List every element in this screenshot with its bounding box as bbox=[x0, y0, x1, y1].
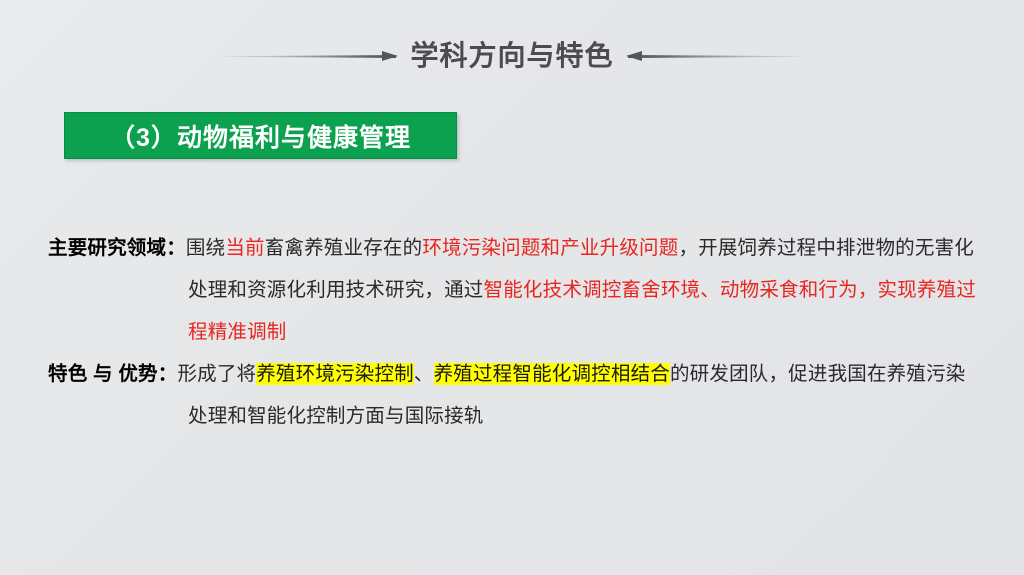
section-badge-label: （3）动物福利与健康管理 bbox=[110, 118, 411, 154]
text-run-plain: 、 bbox=[414, 363, 434, 385]
paragraph-runs: 围绕当前畜禽养殖业存在的环境污染问题和产业升级问题，开展饲养过程中排泄物的无害化… bbox=[186, 237, 976, 343]
text-run-highlight: 养殖环境污染控制 bbox=[256, 363, 414, 385]
slide-title-row: 学科方向与特色 bbox=[0, 34, 1024, 78]
paragraph-features-advantages: 特色 与 优势：形成了将养殖环境污染控制、养殖过程智能化调控相结合的研发团队，促… bbox=[48, 353, 978, 437]
right-arrow-icon bbox=[628, 50, 803, 62]
text-run-red: 环境污染问题和产业升级问题 bbox=[422, 237, 678, 259]
text-run-red: 当前 bbox=[225, 237, 264, 259]
text-run-plain: 形成了将 bbox=[177, 363, 256, 385]
body-content: 主要研究领域：围绕当前畜禽养殖业存在的环境污染问题和产业升级问题，开展饲养过程中… bbox=[48, 227, 978, 437]
left-arrow-icon bbox=[221, 50, 396, 62]
paragraph-label: 特色 与 优势： bbox=[48, 363, 177, 385]
page-title: 学科方向与特色 bbox=[396, 34, 627, 78]
paragraph-label: 主要研究领域： bbox=[48, 237, 186, 259]
paragraph-research-areas: 主要研究领域：围绕当前畜禽养殖业存在的环境污染问题和产业升级问题，开展饲养过程中… bbox=[48, 227, 978, 353]
paragraph-runs: 形成了将养殖环境污染控制、养殖过程智能化调控相结合的研发团队，促进我国在养殖污染… bbox=[177, 363, 965, 427]
text-run-highlight: 养殖过程智能化调控相结合 bbox=[434, 363, 670, 385]
slide-root: 学科方向与特色 （3）动物福利与健康管理 主要研究领域：围绕当前畜禽养殖业存在的… bbox=[0, 0, 1024, 575]
section-badge: （3）动物福利与健康管理 bbox=[64, 112, 457, 159]
text-run-plain: 畜禽养殖业存在的 bbox=[265, 237, 423, 259]
text-run-plain: 围绕 bbox=[186, 237, 225, 259]
